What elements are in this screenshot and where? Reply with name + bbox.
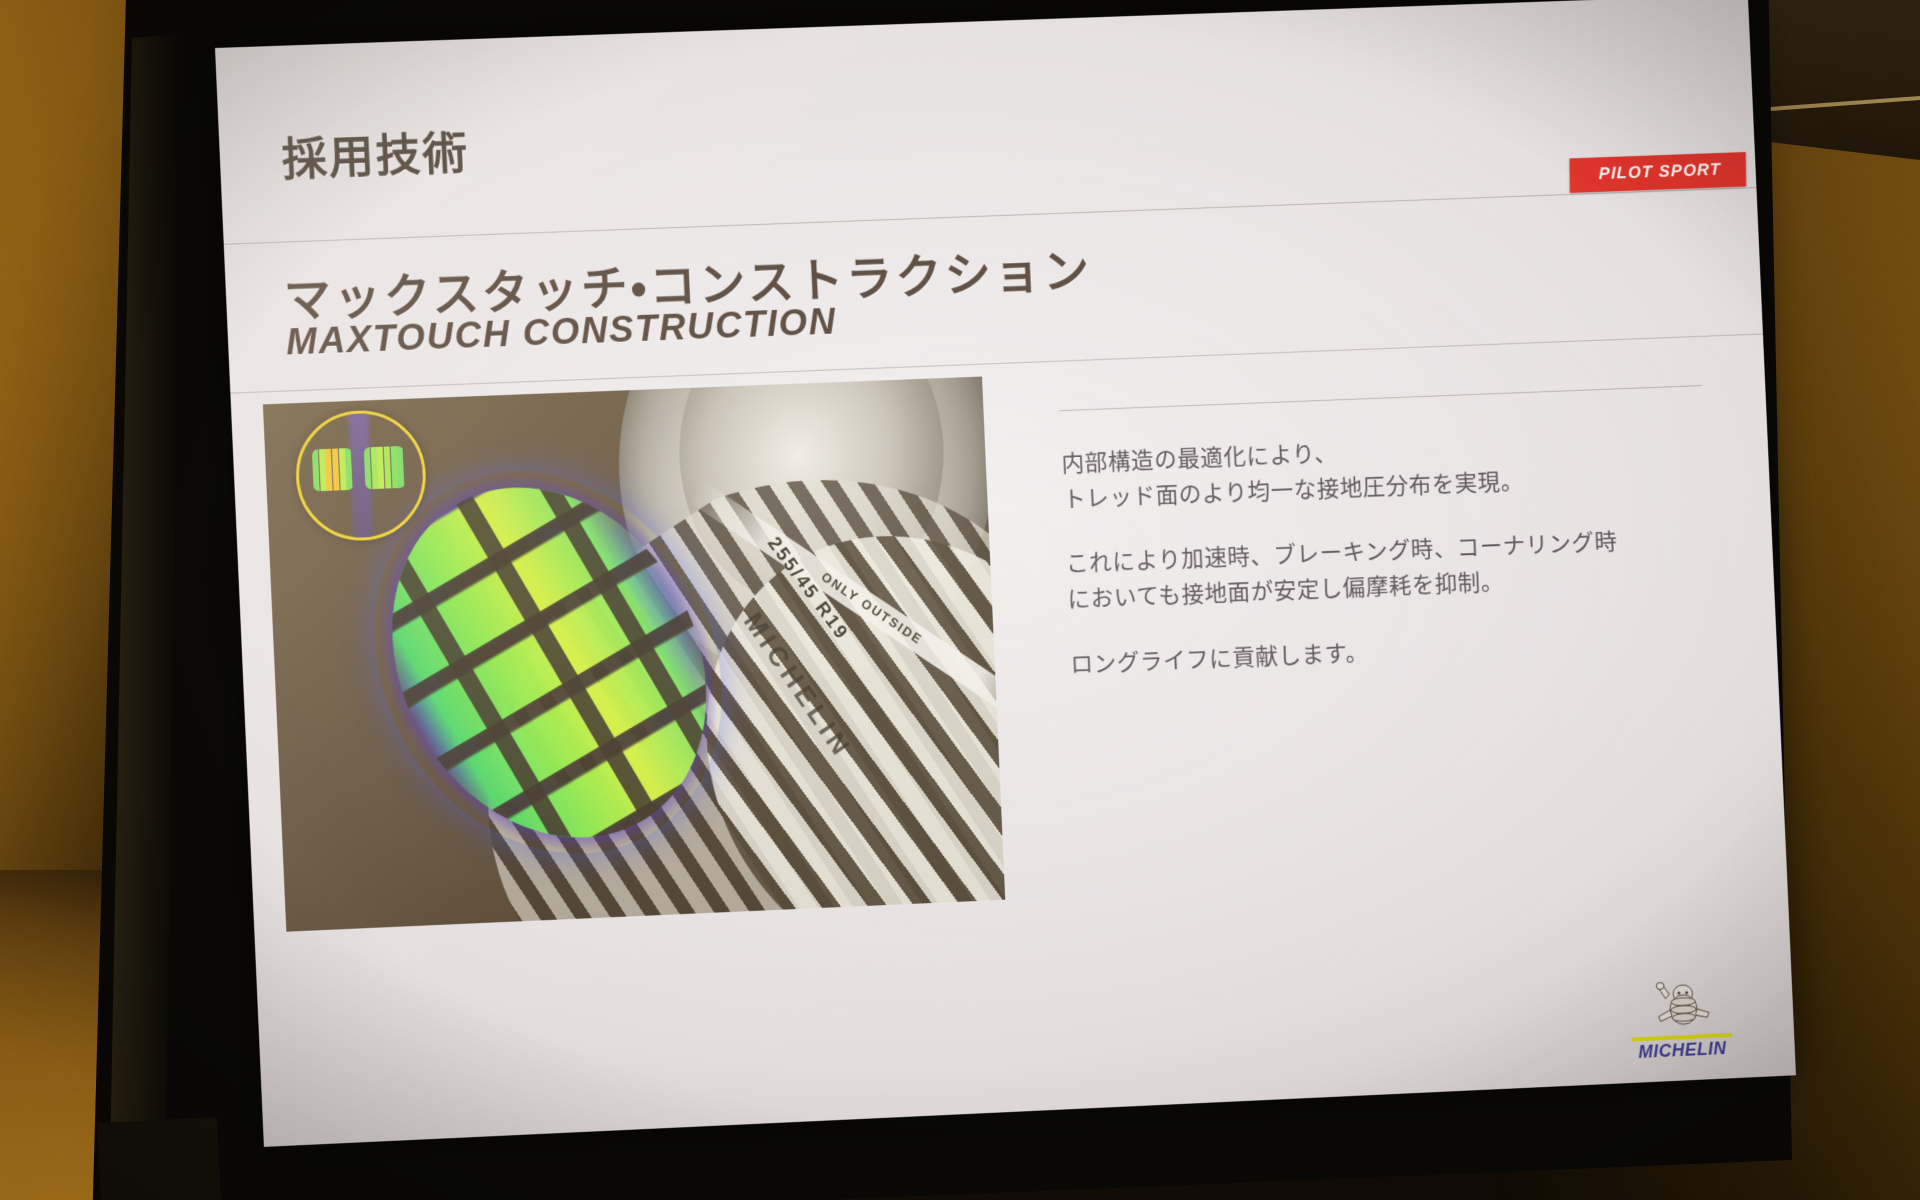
body-divider	[1059, 385, 1702, 411]
body-paragraph-1: 内部構造の最適化により、 トレッド面のより均一な接地圧分布を実現。	[1061, 421, 1707, 517]
projection-screen-area: 採用技術 PILOT SPORT マックスタッチ・コンストラクション MAXTO…	[0, 0, 1920, 1200]
michelin-wordmark: MICHELIN	[1624, 1037, 1741, 1063]
detail-patch-right	[364, 446, 406, 489]
body-paragraph-2: これにより加速時、ブレーキング時、コーナリング時 においても接地面が安定し偏摩耗…	[1065, 521, 1711, 618]
bibendum-icon	[1643, 979, 1717, 1035]
room-photograph: 採用技術 PILOT SPORT マックスタッチ・コンストラクション MAXTO…	[0, 0, 1920, 1200]
michelin-logo: MICHELIN	[1621, 978, 1741, 1064]
detail-patch-bar	[345, 448, 353, 490]
detail-patch-left	[312, 448, 354, 491]
body-text-column: 内部構造の最適化により、 トレッド面のより均一な接地圧分布を実現。 これにより加…	[1059, 385, 1715, 712]
tire-pressure-figure: ONLY OUTSIDE 255/45 R19 MICHELIN	[263, 377, 1005, 932]
pilot-sport-badge: PILOT SPORT	[1569, 152, 1746, 193]
heading-block: マックスタッチ・コンストラクション MAXTOUCH CONSTRUCTION	[283, 228, 1566, 364]
detail-patch-bar	[397, 446, 405, 488]
projected-slide: 採用技術 PILOT SPORT マックスタッチ・コンストラクション MAXTO…	[215, 0, 1796, 1147]
body-paragraph-3: ロングライフに貢献します。	[1070, 621, 1715, 683]
page-title: 採用技術	[280, 117, 470, 189]
